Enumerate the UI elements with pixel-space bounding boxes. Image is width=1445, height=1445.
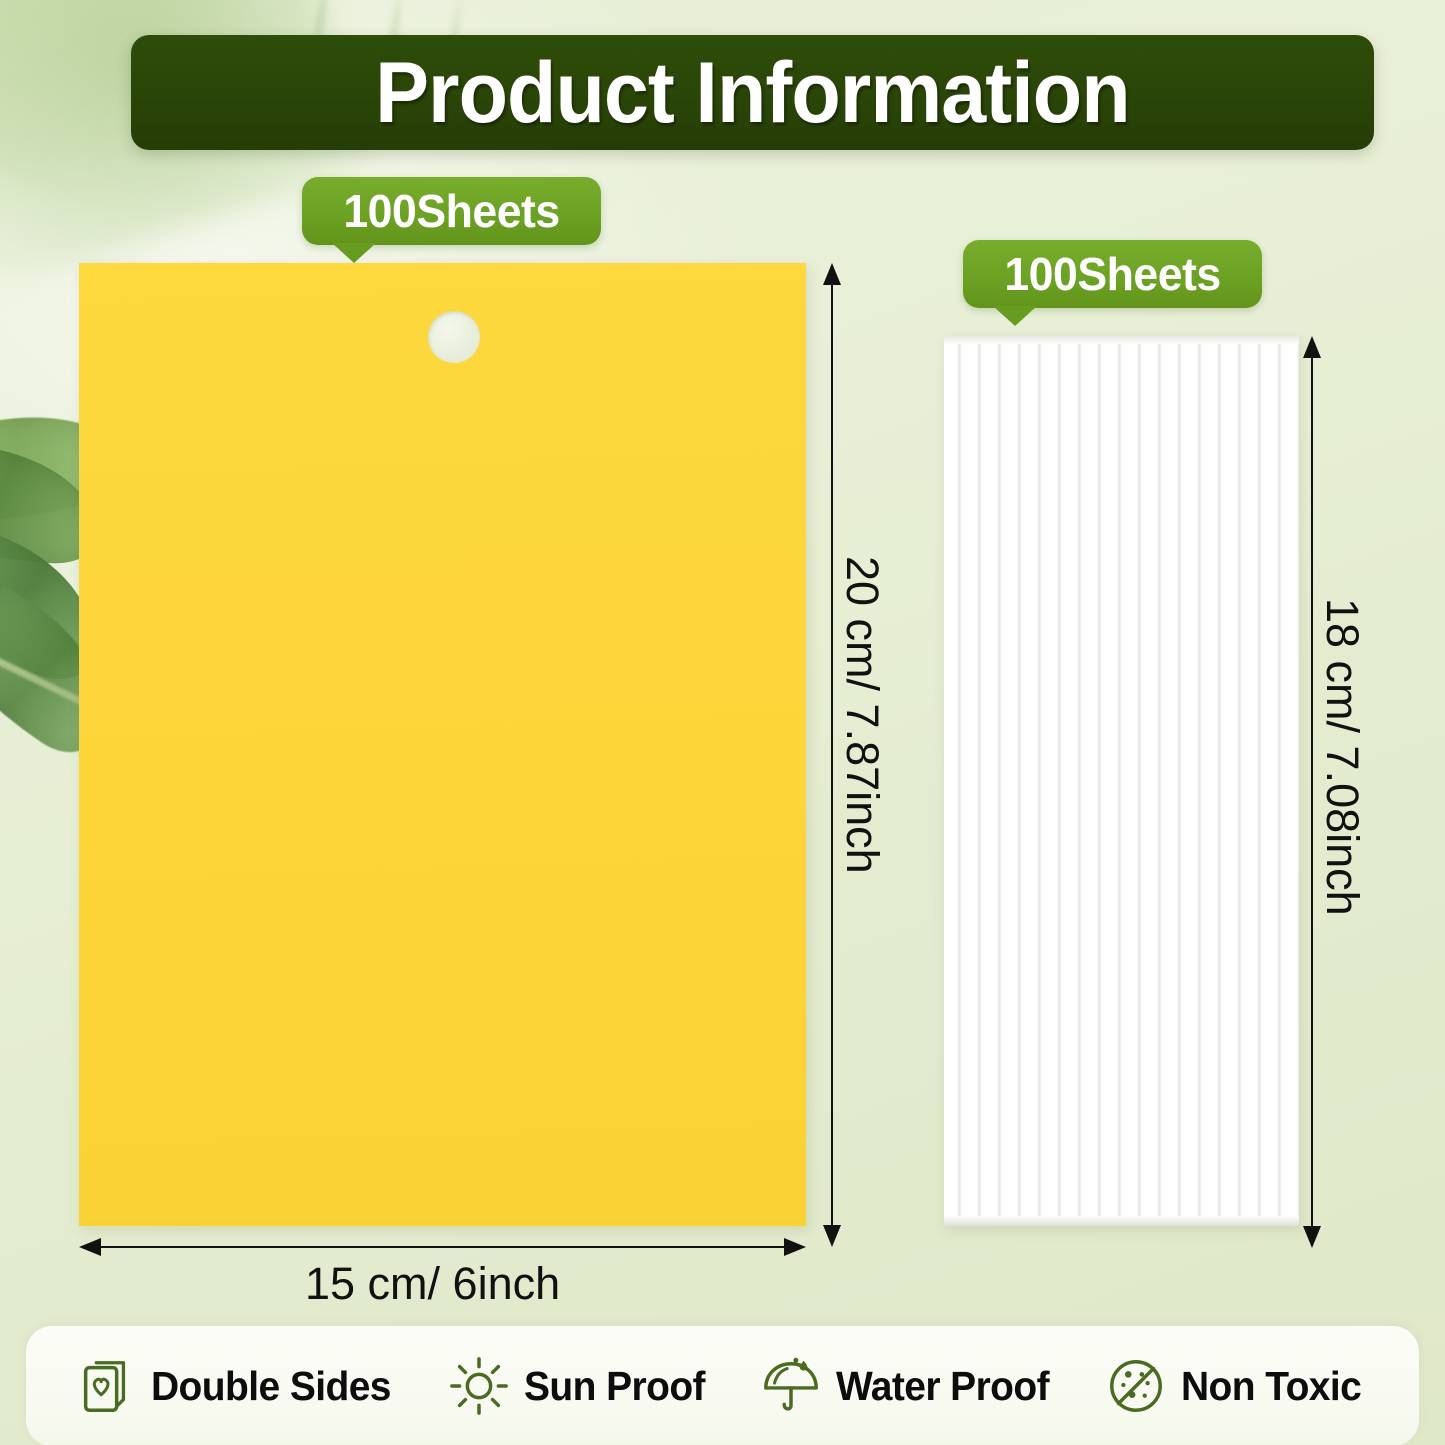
badge-sheets-right: 100Sheets xyxy=(963,240,1262,308)
badge-sheets-right-label: 100Sheets xyxy=(1004,251,1220,297)
arrow-head-up-icon xyxy=(1303,336,1321,358)
double-sides-icon xyxy=(75,1355,137,1417)
yellow-sticky-trap-sheet xyxy=(79,263,806,1226)
arrow-head-down-icon xyxy=(1303,1226,1321,1248)
feature-item-double-sides: Double Sides xyxy=(75,1355,404,1417)
badge-tail-icon xyxy=(332,243,376,263)
feature-bar: Double Sides Sun Proof xyxy=(26,1326,1419,1445)
board-bottom-edge xyxy=(944,1216,1299,1226)
arrow-head-down-icon xyxy=(823,1225,841,1247)
header-banner: Product Information xyxy=(131,35,1374,150)
dimension-label-yellow-width: 15 cm/ 6inch xyxy=(305,1258,560,1310)
product-information-infographic: Product Information 100Sheets 100Sheets … xyxy=(0,0,1445,1445)
feature-label-double-sides: Double Sides xyxy=(151,1363,391,1410)
badge-sheets-left-label: 100Sheets xyxy=(343,188,559,234)
badge-tail-icon xyxy=(993,306,1037,326)
arrow-head-left-icon xyxy=(79,1238,101,1256)
page-title: Product Information xyxy=(375,50,1130,136)
sun-icon xyxy=(448,1355,510,1417)
feature-item-non-toxic: Non Toxic xyxy=(1105,1355,1371,1417)
board-top-edge xyxy=(944,336,1299,344)
arrow-head-up-icon xyxy=(823,263,841,285)
dimension-line-white-height xyxy=(1311,358,1313,1226)
hanging-hole-icon xyxy=(428,311,480,363)
arrow-head-right-icon xyxy=(784,1238,806,1256)
feature-label-water-proof: Water Proof xyxy=(836,1363,1049,1410)
umbrella-icon xyxy=(760,1355,822,1417)
feature-label-non-toxic: Non Toxic xyxy=(1181,1363,1361,1410)
badge-sheets-left: 100Sheets xyxy=(302,177,601,245)
feature-item-water-proof: Water Proof xyxy=(760,1355,1060,1417)
non-toxic-icon xyxy=(1105,1355,1167,1417)
feature-item-sun-proof: Sun Proof xyxy=(448,1355,714,1417)
dimension-label-yellow-height: 20 cm/ 7.87inch xyxy=(836,556,888,874)
dimension-label-white-height: 18 cm/ 7.08inch xyxy=(1316,598,1368,916)
dimension-line-yellow-width xyxy=(101,1246,784,1248)
feature-label-sun-proof: Sun Proof xyxy=(524,1363,705,1410)
white-corrugated-stakes xyxy=(944,336,1299,1226)
dimension-line-yellow-height xyxy=(831,285,833,1225)
